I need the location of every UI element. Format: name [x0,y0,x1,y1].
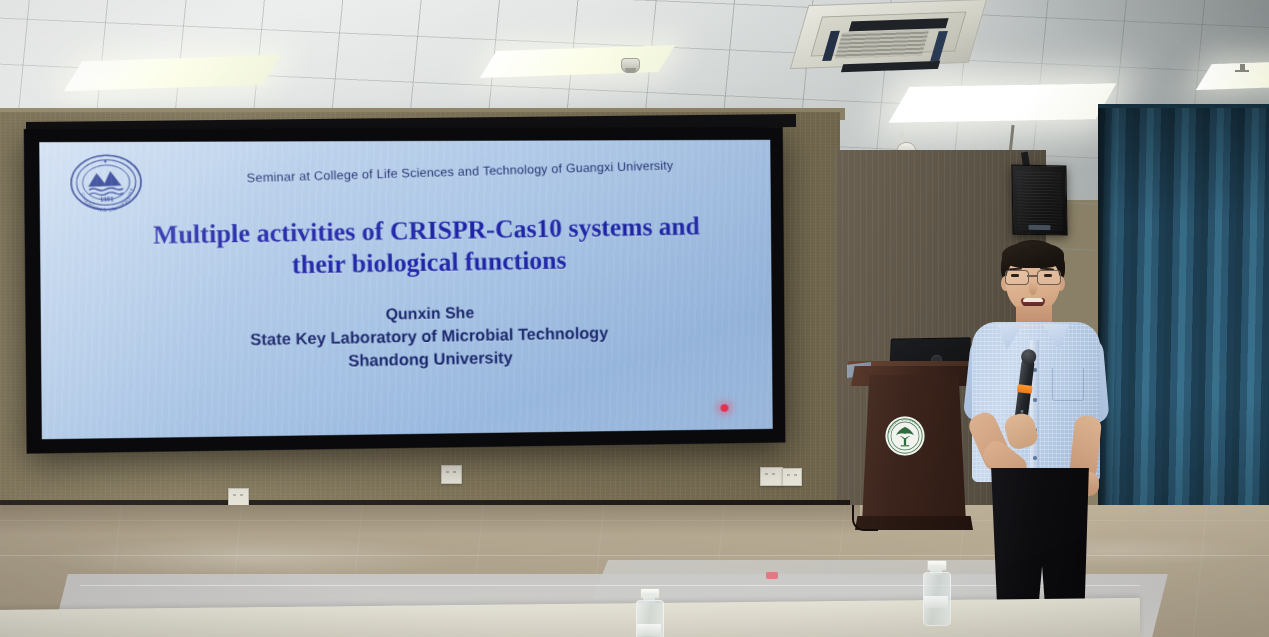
shirt-pocket [1052,368,1084,401]
wall-outlet-plate[interactable] [760,467,783,486]
wall-outlet-plate[interactable] [441,465,462,484]
lecture-hall-photo: 1901 SHANDONG UNIVERSITY Seminar at Coll… [0,0,1269,637]
podium-power-cable [852,505,878,531]
wall-outlet-plate[interactable] [782,468,802,486]
slide-header-text: Seminar at College of Life Sciences and … [211,158,709,187]
ac-vent-slot [930,31,948,61]
shirt-button [1033,398,1037,402]
eyeglass-lens [1037,270,1061,285]
presenter-hair-front [1002,242,1064,268]
ceiling-cassette-air-conditioner [790,0,987,69]
slide-author-block: Qunxin She State Key Laboratory of Micro… [122,298,731,377]
presenter-nose [1029,282,1037,295]
smoke-detector-icon [621,58,640,73]
projection-screen: 1901 SHANDONG UNIVERSITY Seminar at Coll… [39,140,772,439]
projection-screen-frame: 1901 SHANDONG UNIVERSITY Seminar at Coll… [24,127,786,454]
water-bottle[interactable] [636,588,664,637]
wall-mounted-loudspeaker [1011,165,1067,236]
microphone-band [1017,384,1033,394]
laser-pointer-dot-icon [719,404,730,412]
screen-scanline-texture [39,140,772,439]
ac-grille [835,30,929,59]
speaker-badge [1028,225,1050,230]
ac-inner-panel [810,12,966,57]
screen-glare [39,140,772,439]
water-bottle[interactable] [923,560,951,620]
shandong-university-seal-icon: 1901 SHANDONG UNIVERSITY [66,152,146,214]
floor-red-marker [766,572,778,579]
guangxi-university-seal-icon: GUANGXI UNIVERSITY [884,415,926,457]
svg-text:1901: 1901 [100,196,115,204]
slide-title: Multiple activities of CRISPR-Cas10 syst… [101,210,750,284]
speaker-grille [1016,170,1062,231]
bottle-label [924,596,948,608]
presenter-teeth [1023,298,1043,302]
presenter [948,240,1120,637]
bottle-label [637,624,661,636]
eyeglass-bridge [1027,275,1038,277]
eyeglass-lens [1005,270,1029,285]
ceiling-light-panel [888,83,1116,123]
shirt-button [1033,456,1037,460]
ac-vent-slot [849,18,949,31]
sprinkler-head-icon [1240,64,1245,72]
presenter-eye [1011,274,1019,277]
presenter-eye [1044,274,1052,277]
